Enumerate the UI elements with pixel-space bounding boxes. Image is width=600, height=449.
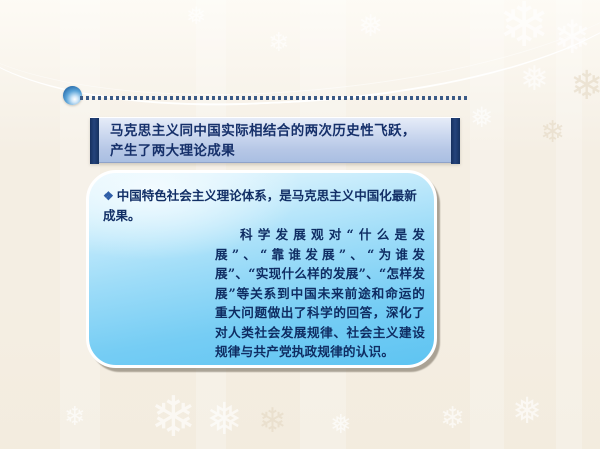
snowflake-icon: ❄ bbox=[570, 66, 600, 106]
presentation-slide: ❄ ❄ ❅ ❄ ❅ ❄ ❅ ❄ ❅ ❄ ❅ ❄ ❅ ❄ ❅ ❄ 马克思主义同中国… bbox=[0, 0, 600, 449]
snowflake-icon: ❅ bbox=[206, 398, 243, 442]
snowflake-icon: ❅ bbox=[470, 104, 493, 132]
snowflake-icon: ❅ bbox=[520, 62, 549, 96]
slide-title: 马克思主义同中国实际相结合的两次历史性飞跃， 产生了两大理论成果 bbox=[110, 121, 448, 161]
bullet-item-label: 中国特色社会主义理论体系，是马克思主义中国化最新成果。 bbox=[103, 188, 417, 223]
title-cap-right bbox=[451, 118, 460, 164]
body-paragraph: 科学发展观对“什么是发展”、“靠谁发展”、“为谁发展”、“实现什么样的发展”、“… bbox=[215, 225, 425, 362]
snowflake-icon: ❅ bbox=[512, 394, 542, 430]
dotted-divider bbox=[80, 96, 470, 100]
snowflake-icon: ❄ bbox=[258, 404, 287, 438]
snowflake-icon: ❄ bbox=[540, 118, 565, 148]
content-panel: ❖中国特色社会主义理论体系，是马克思主义中国化最新成果。 科学发展观对“什么是发… bbox=[86, 170, 437, 368]
diamond-bullet-icon: ❖ bbox=[103, 189, 114, 203]
snowflake-icon: ❅ bbox=[330, 412, 352, 438]
title-cap-left bbox=[90, 118, 99, 164]
slide-title-plate: 马克思主义同中国实际相结合的两次历史性飞跃， 产生了两大理论成果 bbox=[90, 117, 460, 163]
snowflake-icon: ❄ bbox=[64, 404, 86, 430]
bullet-item: ❖中国特色社会主义理论体系，是马克思主义中国化最新成果。 bbox=[103, 186, 425, 225]
snowflake-icon: ❄ bbox=[440, 404, 465, 434]
snowflake-icon: ❄ bbox=[150, 390, 197, 446]
